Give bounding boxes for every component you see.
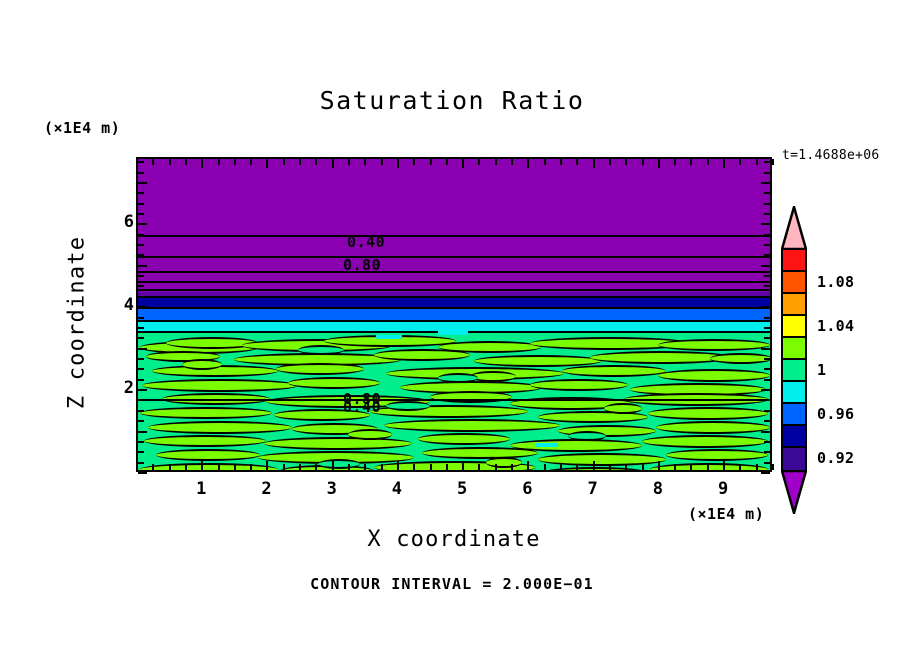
axis-tick: [495, 159, 497, 165]
axis-tick: [761, 389, 770, 391]
axis-tick: [201, 159, 203, 168]
contour-line: [138, 235, 770, 237]
axis-tick: [462, 461, 464, 470]
axis-tick: [764, 337, 770, 339]
axis-tick: [764, 420, 770, 422]
axis-tick: [138, 285, 144, 287]
contour-filament: [658, 369, 770, 382]
axis-tick: [593, 461, 595, 470]
axis-tick: [381, 159, 383, 165]
x-axis-unit-label: (×1E4 m): [688, 505, 764, 523]
axis-tick: [138, 441, 144, 443]
axis-tick: [234, 464, 236, 470]
axis-tick: [138, 358, 144, 360]
axis-tick: [756, 464, 758, 470]
axis-tick: [764, 234, 770, 236]
contour-filament: [148, 421, 292, 434]
x-tick-label: 6: [507, 479, 547, 499]
x-tick-label: 8: [638, 479, 678, 499]
axis-tick: [381, 464, 383, 470]
y-tick-label: 4: [104, 295, 134, 315]
axis-tick: [283, 159, 285, 165]
axis-tick: [764, 399, 770, 401]
colorbar-segment: [783, 360, 805, 382]
colorbar-segment: [783, 426, 805, 448]
x-tick-label: 5: [442, 479, 482, 499]
axis-tick: [364, 159, 366, 165]
contour-band: [138, 298, 770, 307]
contour-filament: [542, 467, 648, 472]
axis-tick: [772, 159, 774, 165]
axis-tick: [764, 254, 770, 256]
axis-tick: [764, 213, 770, 215]
contour-line: [138, 281, 770, 283]
contour-value-label: 0.80: [343, 256, 381, 274]
contour-filament: [568, 431, 606, 441]
colorbar-tick-label: 0.92: [817, 449, 854, 467]
colorbar-segment: [783, 448, 805, 470]
contour-filament: [182, 359, 222, 370]
axis-tick: [138, 379, 144, 381]
axis-tick: [138, 296, 144, 298]
axis-tick: [138, 223, 147, 225]
axis-tick: [138, 348, 147, 350]
axis-tick: [544, 464, 546, 470]
axis-tick: [250, 464, 252, 470]
colorbar-tick-label: 1.04: [817, 317, 854, 335]
axis-tick: [138, 462, 144, 464]
axis-tick: [218, 159, 220, 165]
colorbar-segment: [783, 404, 805, 426]
axis-tick: [364, 464, 366, 470]
contour-value-label: 0.40: [343, 398, 381, 416]
axis-tick: [764, 317, 770, 319]
contour-line: [138, 256, 770, 258]
axis-tick: [430, 464, 432, 470]
axis-tick: [234, 159, 236, 165]
x-tick-label: 7: [573, 479, 613, 499]
colorbar-segment: [783, 382, 805, 404]
axis-tick: [332, 461, 334, 470]
y-tick-label: 2: [104, 378, 134, 398]
axis-tick: [185, 159, 187, 165]
colorbar-segment: [783, 250, 805, 272]
axis-tick: [707, 464, 709, 470]
contour-filament: [562, 365, 666, 377]
axis-tick: [690, 464, 692, 470]
contour-filament: [666, 449, 768, 461]
axis-tick: [169, 464, 171, 470]
axis-tick: [413, 159, 415, 165]
axis-tick: [642, 464, 644, 470]
contour-filament: [648, 407, 768, 420]
contour-filament: [288, 377, 380, 389]
axis-tick: [138, 410, 144, 412]
axis-tick: [764, 192, 770, 194]
contour-filament: [276, 363, 364, 375]
axis-tick: [266, 159, 268, 168]
colorbar-tick-label: 0.96: [817, 405, 854, 423]
axis-tick: [315, 464, 317, 470]
axis-tick: [315, 159, 317, 165]
axis-tick: [169, 159, 171, 165]
axis-tick: [764, 358, 770, 360]
axis-tick: [764, 275, 770, 277]
contour-filament: [604, 403, 642, 414]
axis-tick: [138, 327, 144, 329]
contour-filament: [430, 391, 512, 403]
colorbar-tick-label: 1: [817, 361, 826, 379]
axis-tick: [642, 159, 644, 165]
contour-filament: [348, 429, 392, 440]
axis-tick: [138, 244, 144, 246]
axis-tick: [674, 464, 676, 470]
axis-tick: [658, 159, 660, 168]
contour-filament: [536, 443, 558, 447]
axis-tick: [138, 306, 147, 308]
axis-tick: [764, 172, 770, 174]
axis-tick: [764, 327, 770, 329]
axis-tick: [723, 461, 725, 470]
contour-filament: [642, 435, 768, 448]
contour-band: [138, 309, 770, 320]
axis-tick: [138, 203, 144, 205]
contour-filament: [264, 437, 412, 450]
axis-tick: [707, 159, 709, 165]
axis-tick: [152, 464, 154, 470]
contour-filament: [422, 447, 538, 459]
axis-tick: [576, 159, 578, 165]
axis-tick: [138, 420, 144, 422]
contour-filament: [658, 339, 770, 351]
contour-line: [138, 289, 770, 291]
contour-value-label: 0.40: [347, 233, 385, 251]
contour-filament: [650, 463, 768, 472]
contour-filament: [374, 349, 470, 361]
axis-tick: [185, 464, 187, 470]
contour-filament: [656, 421, 770, 434]
axis-tick: [152, 159, 154, 165]
colorbar-tick-label: 1.08: [817, 273, 854, 291]
y-axis-unit-label: (×1E4 m): [44, 119, 120, 137]
axis-tick: [138, 472, 147, 474]
x-tick-label: 9: [703, 479, 743, 499]
axis-tick: [138, 213, 144, 215]
contour-filament: [386, 401, 430, 411]
axis-tick: [560, 159, 562, 165]
axis-tick: [739, 464, 741, 470]
contour-filament: [140, 407, 272, 419]
x-tick-label: 2: [246, 479, 286, 499]
axis-tick: [138, 389, 147, 391]
contour-filament: [538, 453, 666, 466]
axis-tick: [138, 431, 147, 433]
contour-filament: [418, 433, 510, 445]
axis-tick: [495, 464, 497, 470]
contour-band: [138, 322, 770, 331]
axis-tick: [761, 348, 770, 350]
axis-tick: [761, 306, 770, 308]
contour-line: [138, 271, 770, 273]
axis-tick: [674, 159, 676, 165]
contour-filament: [710, 353, 772, 364]
axis-tick: [201, 461, 203, 470]
axis-tick: [764, 379, 770, 381]
contour-filament: [438, 373, 478, 383]
axis-tick: [764, 451, 770, 453]
axis-tick: [761, 265, 770, 267]
x-axis-title: X coordinate: [136, 527, 772, 552]
axis-tick: [625, 159, 627, 165]
contour-filament: [144, 435, 266, 447]
contour-filament: [298, 345, 344, 355]
axis-tick: [138, 317, 144, 319]
axis-tick: [138, 337, 144, 339]
axis-tick: [138, 399, 144, 401]
axis-tick: [511, 159, 513, 165]
axis-tick: [218, 464, 220, 470]
axis-tick: [413, 464, 415, 470]
contour-interval-caption: CONTOUR INTERVAL = 2.000E−01: [0, 575, 904, 593]
axis-tick: [332, 159, 334, 168]
contour-filament: [486, 457, 522, 468]
axis-tick: [761, 431, 770, 433]
axis-tick: [478, 159, 480, 165]
axis-tick: [764, 368, 770, 370]
axis-tick: [772, 464, 774, 470]
axis-tick: [764, 161, 770, 163]
axis-tick: [764, 410, 770, 412]
axis-tick: [761, 182, 770, 184]
axis-tick: [764, 441, 770, 443]
time-annotation: t=1.4688e+06: [782, 148, 880, 163]
axis-tick: [527, 159, 529, 168]
axis-tick: [138, 182, 147, 184]
axis-tick: [756, 159, 758, 165]
axis-tick: [764, 462, 770, 464]
colorbar-segment: [783, 316, 805, 338]
axis-tick: [658, 461, 660, 470]
axis-tick: [560, 464, 562, 470]
x-tick-label: 4: [377, 479, 417, 499]
axis-tick: [138, 172, 144, 174]
axis-tick: [138, 192, 144, 194]
axis-tick: [764, 296, 770, 298]
axis-tick: [138, 234, 144, 236]
axis-tick: [266, 461, 268, 470]
axis-tick: [593, 159, 595, 168]
axis-tick: [446, 159, 448, 165]
axis-tick: [299, 464, 301, 470]
axis-tick: [397, 461, 399, 470]
axis-tick: [690, 159, 692, 165]
y-tick-label: 6: [104, 212, 134, 232]
contour-plot-area[interactable]: 0.400.800.800.40: [136, 157, 772, 472]
axis-tick: [478, 464, 480, 470]
axis-tick: [723, 159, 725, 168]
axis-tick: [138, 451, 144, 453]
colorbar-segment: [783, 338, 805, 360]
contour-filament: [384, 419, 560, 432]
axis-tick: [576, 464, 578, 470]
axis-tick: [138, 368, 144, 370]
axis-tick: [764, 203, 770, 205]
axis-tick: [511, 464, 513, 470]
axis-tick: [609, 159, 611, 165]
x-tick-label: 3: [312, 479, 352, 499]
axis-tick: [761, 223, 770, 225]
contour-filament: [142, 379, 298, 392]
y-axis-title: Z coordinate: [65, 228, 90, 418]
axis-tick: [250, 159, 252, 165]
axis-tick: [527, 461, 529, 470]
axis-tick: [138, 265, 147, 267]
colorbar-segment: [783, 272, 805, 294]
colorbar-top-arrow-icon: [781, 206, 807, 250]
contour-filament: [530, 379, 628, 391]
contour-filament: [156, 449, 260, 461]
axis-tick: [138, 254, 144, 256]
axis-tick: [764, 285, 770, 287]
axis-tick: [544, 159, 546, 165]
x-tick-label: 1: [181, 479, 221, 499]
axis-tick: [739, 159, 741, 165]
axis-tick: [138, 161, 144, 163]
contour-field: [138, 159, 770, 470]
axis-tick: [462, 159, 464, 168]
axis-tick: [625, 464, 627, 470]
colorbar-segment: [783, 294, 805, 316]
colorbar-segments: [781, 248, 807, 472]
axis-tick: [348, 464, 350, 470]
axis-tick: [299, 159, 301, 165]
axis-tick: [138, 275, 144, 277]
axis-tick: [348, 159, 350, 165]
contour-line: [138, 399, 770, 401]
axis-tick: [761, 472, 770, 474]
axis-tick: [430, 159, 432, 165]
contour-filament: [140, 463, 278, 472]
contour-filament: [318, 459, 360, 469]
axis-tick: [397, 159, 399, 168]
axis-tick: [609, 464, 611, 470]
contour-filament: [376, 335, 402, 339]
contour-filament: [438, 331, 468, 335]
page-title: Saturation Ratio: [0, 86, 904, 115]
colorbar-bottom-arrow-icon: [781, 470, 807, 514]
axis-tick: [764, 244, 770, 246]
axis-tick: [283, 464, 285, 470]
axis-tick: [446, 464, 448, 470]
